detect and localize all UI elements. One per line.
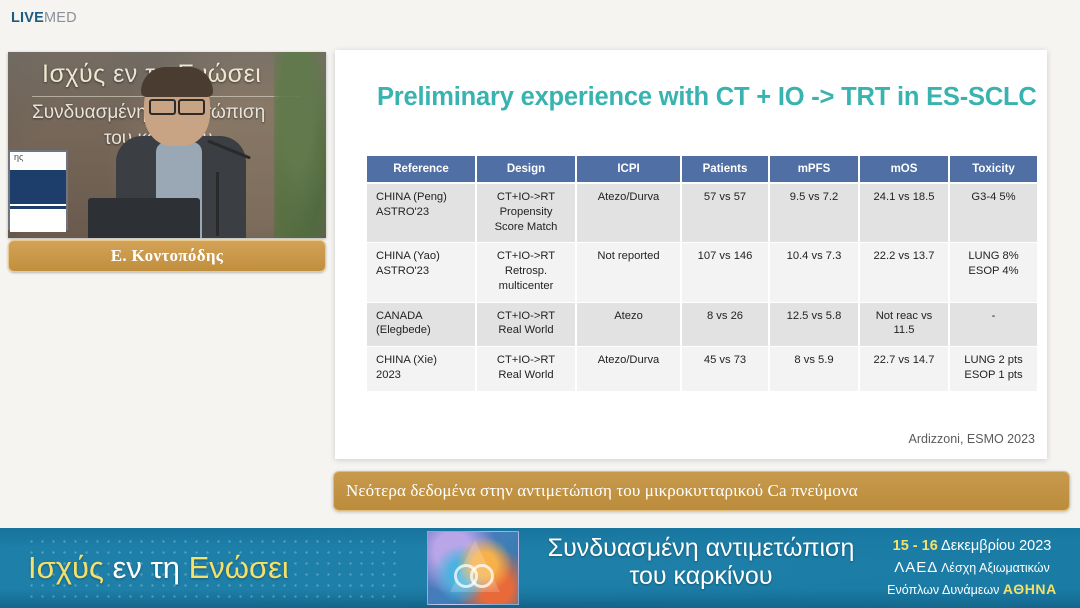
monitor-base	[10, 206, 66, 232]
footer-date-days: 15 - 16	[893, 538, 938, 554]
cell-mos: 24.1 vs 18.5	[859, 183, 949, 243]
logo-text-med: MED	[44, 10, 77, 26]
results-table: Reference Design ICPI Patients mPFS mOS …	[367, 156, 1037, 392]
footer-center-line1: Συνδυασμένη αντιμετώπιση	[531, 534, 871, 562]
footer-date-month: Δεκεμβρίου 2023	[938, 538, 1052, 554]
footer-date: 15 - 16 Δεκεμβρίου 2023	[874, 536, 1070, 557]
cell-icpi: Atezo/Durva	[576, 347, 681, 392]
logo-text-live: LIVE	[11, 10, 44, 26]
backdrop-motto-a: Ισχύς	[42, 60, 106, 88]
col-header-reference: Reference	[367, 156, 476, 183]
video-player[interactable]: Ισχύς εν τη Ενώσει Συνδυασμένη αντιμετώπ…	[8, 52, 326, 238]
cell-reference: CHINA (Peng)ASTRO'23	[367, 183, 476, 243]
cell-design: CT+IO->RTReal World	[476, 302, 576, 347]
footer-motto-b: εν τη	[104, 550, 189, 585]
cell-mpfs: 8 vs 5.9	[769, 347, 859, 392]
glasses-icon	[149, 99, 205, 111]
cell-design: CT+IO->RTRetrosp.multicenter	[476, 243, 576, 302]
cell-reference: CHINA (Xie)2023	[367, 347, 476, 392]
cell-mos: 22.7 vs 14.7	[859, 347, 949, 392]
col-header-mpfs: mPFS	[769, 156, 859, 183]
cell-design: CT+IO->RTPropensityScore Match	[476, 183, 576, 243]
speaker-name-banner: Ε. Κοντοπόδης	[8, 240, 326, 272]
slide-title: Preliminary experience with CT + IO -> T…	[377, 83, 1037, 112]
emblem-ring-right	[470, 564, 494, 588]
cell-mos: 22.2 vs 13.7	[859, 243, 949, 302]
footer-venue-org: Ενόπλων Δυνάμεων	[887, 583, 1003, 597]
table-row: CHINA (Xie)2023 CT+IO->RTReal World Atez…	[367, 347, 1037, 392]
table-row: CHINA (Yao)ASTRO'23 CT+IO->RTRetrosp.mul…	[367, 243, 1037, 302]
footer-event-info: 15 - 16 Δεκεμβρίου 2023 ΛΑΕΔ Λέσχη Αξιωμ…	[874, 536, 1070, 599]
cell-mpfs: 10.4 vs 7.3	[769, 243, 859, 302]
congress-emblem-icon	[427, 531, 519, 605]
session-title-text: Νεότερα δεδομένα στην αντιμετώπιση του μ…	[346, 481, 858, 501]
cell-mos: Not reac vs11.5	[859, 302, 949, 347]
table-row: CHINA (Peng)ASTRO'23 CT+IO->RTPropensity…	[367, 183, 1037, 243]
col-header-toxicity: Toxicity	[949, 156, 1037, 183]
table-header-row: Reference Design ICPI Patients mPFS mOS …	[367, 156, 1037, 183]
cell-icpi: Atezo	[576, 302, 681, 347]
footer-venue-line2: Ενόπλων Δυνάμεων ΑΘΗΝΑ	[874, 579, 1070, 599]
col-header-mos: mOS	[859, 156, 949, 183]
cell-icpi: Atezo/Durva	[576, 183, 681, 243]
cell-icpi: Not reported	[576, 243, 681, 302]
cell-reference: CANADA(Elegbede)	[367, 302, 476, 347]
speaker-name-text: Ε. Κοντοπόδης	[111, 246, 224, 266]
cell-patients: 57 vs 57	[681, 183, 769, 243]
cell-reference: CHINA (Yao)ASTRO'23	[367, 243, 476, 302]
cell-patients: 45 vs 73	[681, 347, 769, 392]
microphone-stand	[216, 172, 219, 236]
cell-toxicity: LUNG 8%ESOP 4%	[949, 243, 1037, 302]
speaker-hair	[141, 67, 213, 97]
cell-mpfs: 9.5 vs 7.2	[769, 183, 859, 243]
col-header-design: Design	[476, 156, 576, 183]
cell-toxicity: G3-4 5%	[949, 183, 1037, 243]
top-bar: LIVEMED	[0, 0, 1080, 38]
col-header-icpi: ICPI	[576, 156, 681, 183]
cell-patients: 107 vs 146	[681, 243, 769, 302]
cell-mpfs: 12.5 vs 5.8	[769, 302, 859, 347]
footer-motto: Ισχύς εν τη Ενώσει	[28, 550, 289, 586]
footer-venue-line1: ΛΑΕΔ Λέσχη Αξιωματικών	[874, 557, 1070, 579]
laptop	[88, 198, 200, 238]
cell-toxicity: -	[949, 302, 1037, 347]
footer-motto-a: Ισχύς	[28, 550, 104, 585]
cell-patients: 8 vs 26	[681, 302, 769, 347]
footer-motto-c: Ενώσει	[189, 550, 289, 585]
app-root: LIVEMED Ισχύς εν τη Ενώσει Συνδυασμένη α…	[0, 0, 1080, 608]
cell-toxicity: LUNG 2 ptsESOP 1 pts	[949, 347, 1037, 392]
footer-venue-abbr: ΛΑΕΔ	[894, 559, 938, 576]
table-row: CANADA(Elegbede) CT+IO->RTReal World Ate…	[367, 302, 1037, 347]
col-header-patients: Patients	[681, 156, 769, 183]
session-title-banner: Νεότερα δεδομένα στην αντιμετώπιση του μ…	[333, 471, 1070, 511]
podium-monitor: ης	[8, 150, 68, 230]
slide-credit: Ardizzoni, ESMO 2023	[909, 432, 1035, 446]
footer-venue-city: ΑΘΗΝΑ	[1003, 581, 1057, 597]
footer-center-line2: του καρκίνου	[531, 562, 871, 590]
table-body: CHINA (Peng)ASTRO'23 CT+IO->RTPropensity…	[367, 183, 1037, 391]
plant-decor	[274, 52, 326, 238]
cell-design: CT+IO->RTReal World	[476, 347, 576, 392]
monitor-band	[10, 170, 66, 204]
footer-venue-name: Λέσχη Αξιωματικών	[938, 561, 1049, 575]
livemed-logo[interactable]: LIVEMED	[11, 10, 77, 26]
slide-panel: Preliminary experience with CT + IO -> T…	[335, 50, 1047, 459]
monitor-text: ης	[10, 152, 66, 168]
footer-center-title: Συνδυασμένη αντιμετώπιση του καρκίνου	[531, 534, 871, 590]
